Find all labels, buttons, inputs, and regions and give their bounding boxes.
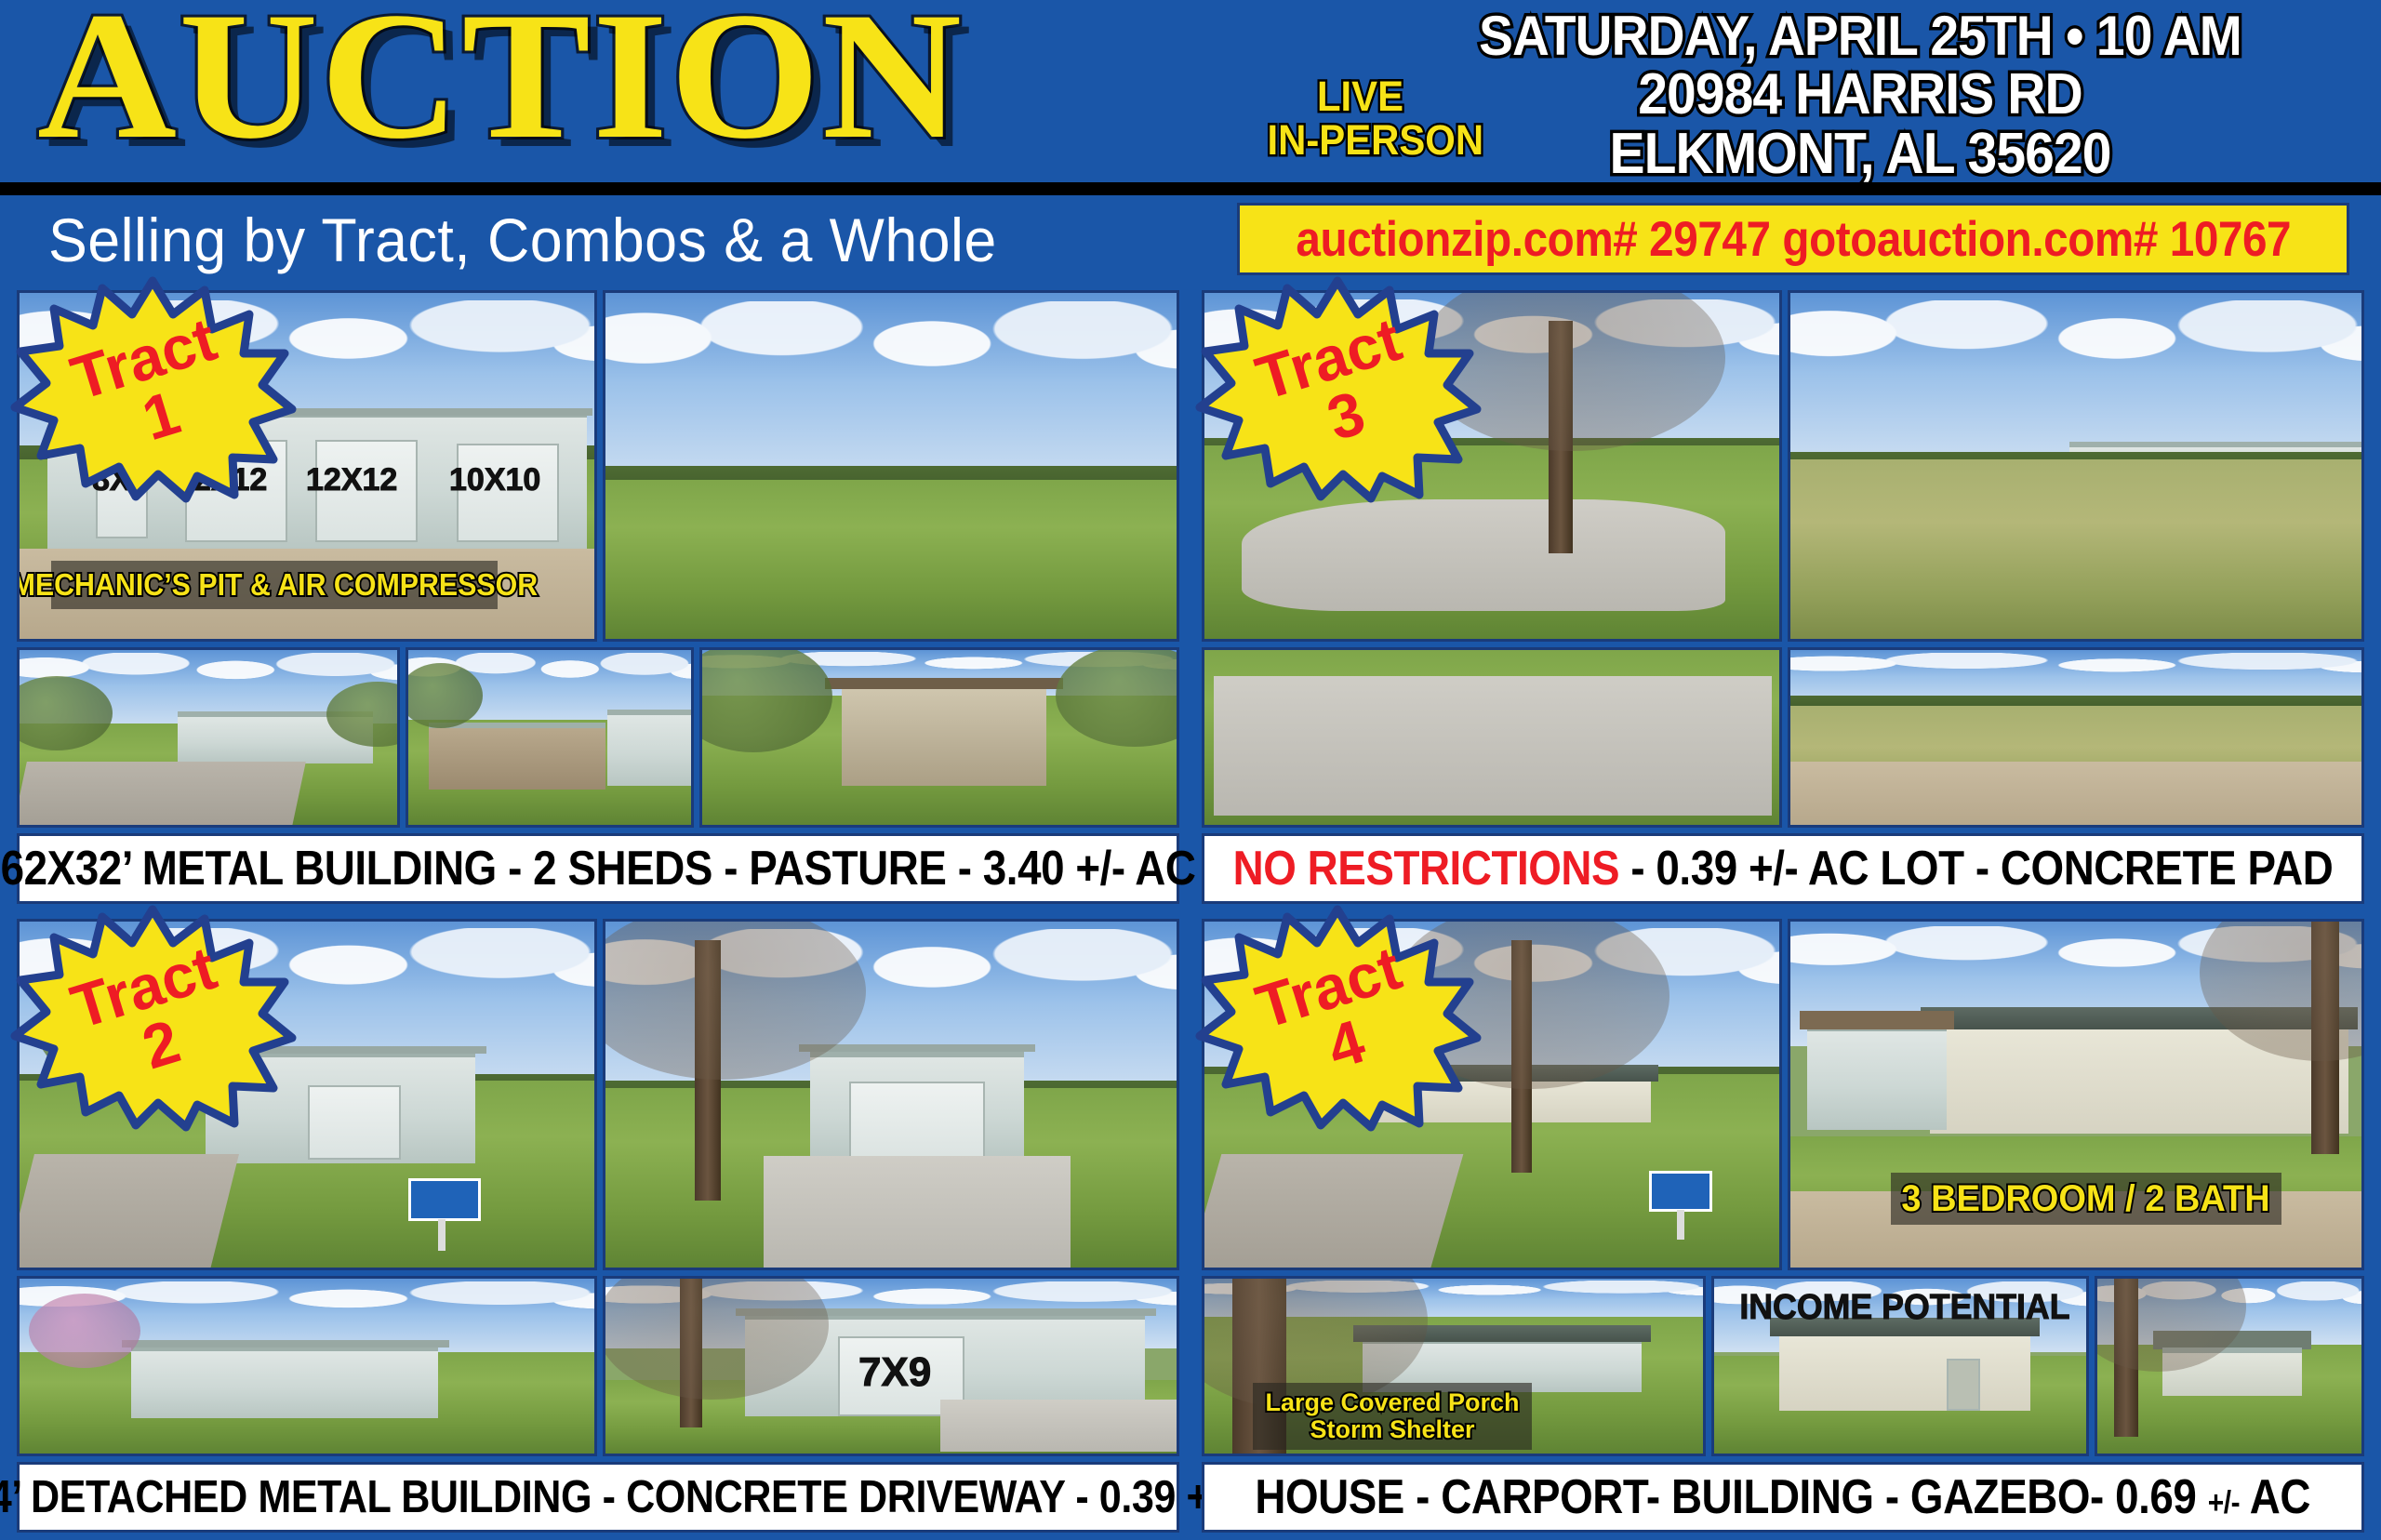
tract-3-caption-text: NO RESTRICTIONS - 0.39 +/- AC LOT - CONC… <box>1233 841 2334 896</box>
live-label: LIVE <box>1268 74 1454 118</box>
tract-3-caption-highlight: NO RESTRICTIONS <box>1233 842 1619 896</box>
porch-shelter-line2: Storm Shelter <box>1310 1416 1474 1443</box>
auction-date-time: SATURDAY, APRIL 25TH • 10 AM <box>1406 7 2313 65</box>
tract-4-caption-pre: HOUSE - CARPORT- BUILDING - GAZEBO- 0.69 <box>1256 1470 2208 1524</box>
tract-3-photo-lot-with-building[interactable] <box>1788 290 2364 642</box>
tract-3-photo-field[interactable] <box>1788 647 2364 828</box>
in-person-label: IN-PERSON <box>1268 118 1454 162</box>
tract-2-panel[interactable]: 7X9 Tract 2 28X24’ DETACHED METAL BUILDI… <box>17 919 1179 1533</box>
door-size-label-12x12-b: 12X12 <box>306 462 397 498</box>
tract-4-photo-gazebo[interactable] <box>2095 1276 2364 1456</box>
tract-2-photo-building-front[interactable] <box>603 919 1179 1270</box>
auction-details: SATURDAY, APRIL 25TH • 10 AM 20984 HARRI… <box>1367 7 2353 184</box>
tract-1-caption-text: 62X32’ METAL BUILDING - 2 SHEDS - PASTUR… <box>1 841 1196 896</box>
tract-3-photos <box>1202 290 2364 828</box>
tract-3-caption: NO RESTRICTIONS - 0.39 +/- AC LOT - CONC… <box>1202 833 2364 904</box>
auction-address-line1: 20984 HARRIS RD <box>1406 65 2313 125</box>
door-size-label-12x12-a: 12X12 <box>176 462 267 498</box>
tract-2-photo-rear-view[interactable] <box>17 1276 597 1456</box>
tract-3-caption-rest: - 0.39 +/- AC LOT - CONCRETE PAD <box>1619 842 2333 896</box>
header-divider <box>0 182 2381 195</box>
mechanics-pit-banner-text: MECHANIC’S PIT & AIR COMPRESSOR <box>17 567 538 603</box>
door-size-label-10x10: 10X10 <box>449 462 540 498</box>
auction-address-line2: ELKMONT, AL 35620 <box>1406 125 2313 184</box>
tract-3-photo-pad-closeup[interactable] <box>1202 647 1782 828</box>
bedroom-bath-banner: 3 BEDROOM / 2 BATH <box>1891 1173 2281 1225</box>
live-in-person-badge: LIVE IN-PERSON <box>1268 74 1454 163</box>
subtitle-row: Selling by Tract, Combos & a Whole aucti… <box>0 195 2381 285</box>
tract-1-photo-pasture[interactable] <box>603 290 1179 642</box>
bedroom-bath-banner-text: 3 BEDROOM / 2 BATH <box>1902 1178 2270 1220</box>
door-size-label-8x8: 8X8 <box>92 462 149 498</box>
tract-2-caption-text: 28X24’ DETACHED METAL BUILDING - CONCRET… <box>0 1471 1299 1523</box>
tract-2-photo-7x9-door[interactable]: 7X9 <box>603 1276 1179 1456</box>
tract-4-photos: 3 BEDROOM / 2 BATH Large Covered Porch S… <box>1202 919 2364 1456</box>
tract-2-photos: 7X9 <box>17 919 1179 1456</box>
mechanics-pit-banner: MECHANIC’S PIT & AIR COMPRESSOR <box>51 561 498 609</box>
porch-shelter-line1: Large Covered Porch <box>1265 1389 1519 1416</box>
tract-4-photo-gazebo-porch[interactable]: Large Covered Porch Storm Shelter <box>1202 1276 1706 1456</box>
tract-1-photo-shed[interactable] <box>406 647 694 828</box>
tract-1-photos: 8X8 12X12 12X12 10X10 MECHANIC’S PIT & A… <box>17 290 1179 828</box>
tract-2-yard-sign <box>408 1178 481 1221</box>
tract-4-photo-rental-building[interactable]: INCOME POTENTIAL <box>1711 1276 2089 1456</box>
page-header: AUCTION SATURDAY, APRIL 25TH • 10 AM 209… <box>0 0 2381 182</box>
tract-1-photo-metal-building[interactable]: 8X8 12X12 12X12 10X10 MECHANIC’S PIT & A… <box>17 290 597 642</box>
tract-1-photo-well-house[interactable] <box>699 647 1179 828</box>
porch-shelter-banner: Large Covered Porch Storm Shelter <box>1253 1383 1532 1450</box>
income-potential-label: INCOME POTENTIAL <box>1739 1288 2069 1328</box>
tract-1-panel[interactable]: 8X8 12X12 12X12 10X10 MECHANIC’S PIT & A… <box>17 290 1179 904</box>
tract-4-yard-sign <box>1649 1171 1712 1212</box>
tract-4-panel[interactable]: 3 BEDROOM / 2 BATH Large Covered Porch S… <box>1202 919 2364 1533</box>
tract-3-panel[interactable]: Tract 3 NO RESTRICTIONS - 0.39 +/- AC LO… <box>1202 290 2364 904</box>
tract-4-caption-post: AC <box>2240 1470 2310 1524</box>
auction-listing-links-text: auctionzip.com# 29747 gotoauction.com# 1… <box>1296 211 2291 268</box>
tract-3-photo-concrete-pad[interactable] <box>1202 290 1782 642</box>
auction-listing-links[interactable]: auctionzip.com# 29747 gotoauction.com# 1… <box>1237 203 2349 275</box>
tract-4-photo-front-yard[interactable] <box>1202 919 1782 1270</box>
page-title: AUCTION <box>37 0 964 167</box>
tract-1-caption: 62X32’ METAL BUILDING - 2 SHEDS - PASTUR… <box>17 833 1179 904</box>
door-size-label-7x9: 7X9 <box>858 1349 931 1396</box>
tract-4-photo-house[interactable]: 3 BEDROOM / 2 BATH <box>1788 919 2364 1270</box>
tract-4-caption-plusminus: +/- <box>2208 1485 2240 1520</box>
tract-4-caption: HOUSE - CARPORT- BUILDING - GAZEBO- 0.69… <box>1202 1462 2364 1533</box>
tract-2-photo-building-side[interactable] <box>17 919 597 1270</box>
tract-1-photo-driveway[interactable] <box>17 647 400 828</box>
tract-2-caption: 28X24’ DETACHED METAL BUILDING - CONCRET… <box>17 1462 1179 1533</box>
tract-4-caption-text: HOUSE - CARPORT- BUILDING - GAZEBO- 0.69… <box>1256 1469 2311 1525</box>
selling-method-text: Selling by Tract, Combos & a Whole <box>48 205 997 275</box>
